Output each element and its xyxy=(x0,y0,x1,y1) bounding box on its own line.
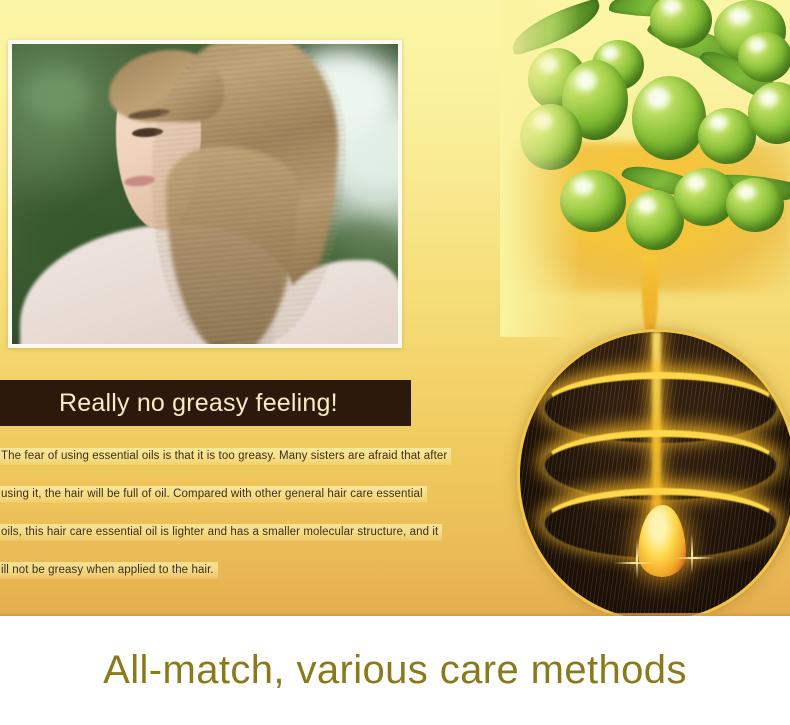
headline-banner: Really no greasy feeling! xyxy=(0,380,411,426)
sparkle xyxy=(674,557,714,559)
olive-cluster-image xyxy=(500,0,790,337)
bokeh-blob xyxy=(20,68,89,122)
sparkle xyxy=(691,534,693,574)
oil-drip-stream xyxy=(642,254,658,340)
sparkle xyxy=(636,539,638,579)
body-copy-line: The fear of using essential oils is that… xyxy=(0,448,451,465)
gold-gradient-panel: Really no greasy feeling! The fear of us… xyxy=(0,0,790,616)
olive-fruit xyxy=(738,32,790,82)
olive-fruit xyxy=(632,76,706,160)
body-copy-line: ill not be greasy when applied to the ha… xyxy=(0,562,218,579)
bokeh-blob xyxy=(344,122,398,188)
hero-photo-frame xyxy=(8,40,402,348)
bottom-caption-bar: All-match, various care methods xyxy=(0,616,790,725)
olive-fruit xyxy=(520,104,582,170)
hero-photo-woman-with-hair xyxy=(12,44,398,344)
body-copy-block: The fear of using essential oils is that… xyxy=(0,446,430,598)
body-copy-line: oils, this hair care essential oil is li… xyxy=(0,524,442,541)
olive-fruit xyxy=(560,170,626,232)
body-copy-line: using it, the hair will be full of oil. … xyxy=(0,486,427,503)
hair-oil-circle-graphic xyxy=(520,332,790,616)
olive-fruit xyxy=(726,178,784,232)
sparkle xyxy=(614,562,654,564)
bottom-caption-text: All-match, various care methods xyxy=(103,648,687,693)
headline-text: Really no greasy feeling! xyxy=(59,389,338,418)
product-promo-page: Really no greasy feeling! The fear of us… xyxy=(0,0,790,725)
